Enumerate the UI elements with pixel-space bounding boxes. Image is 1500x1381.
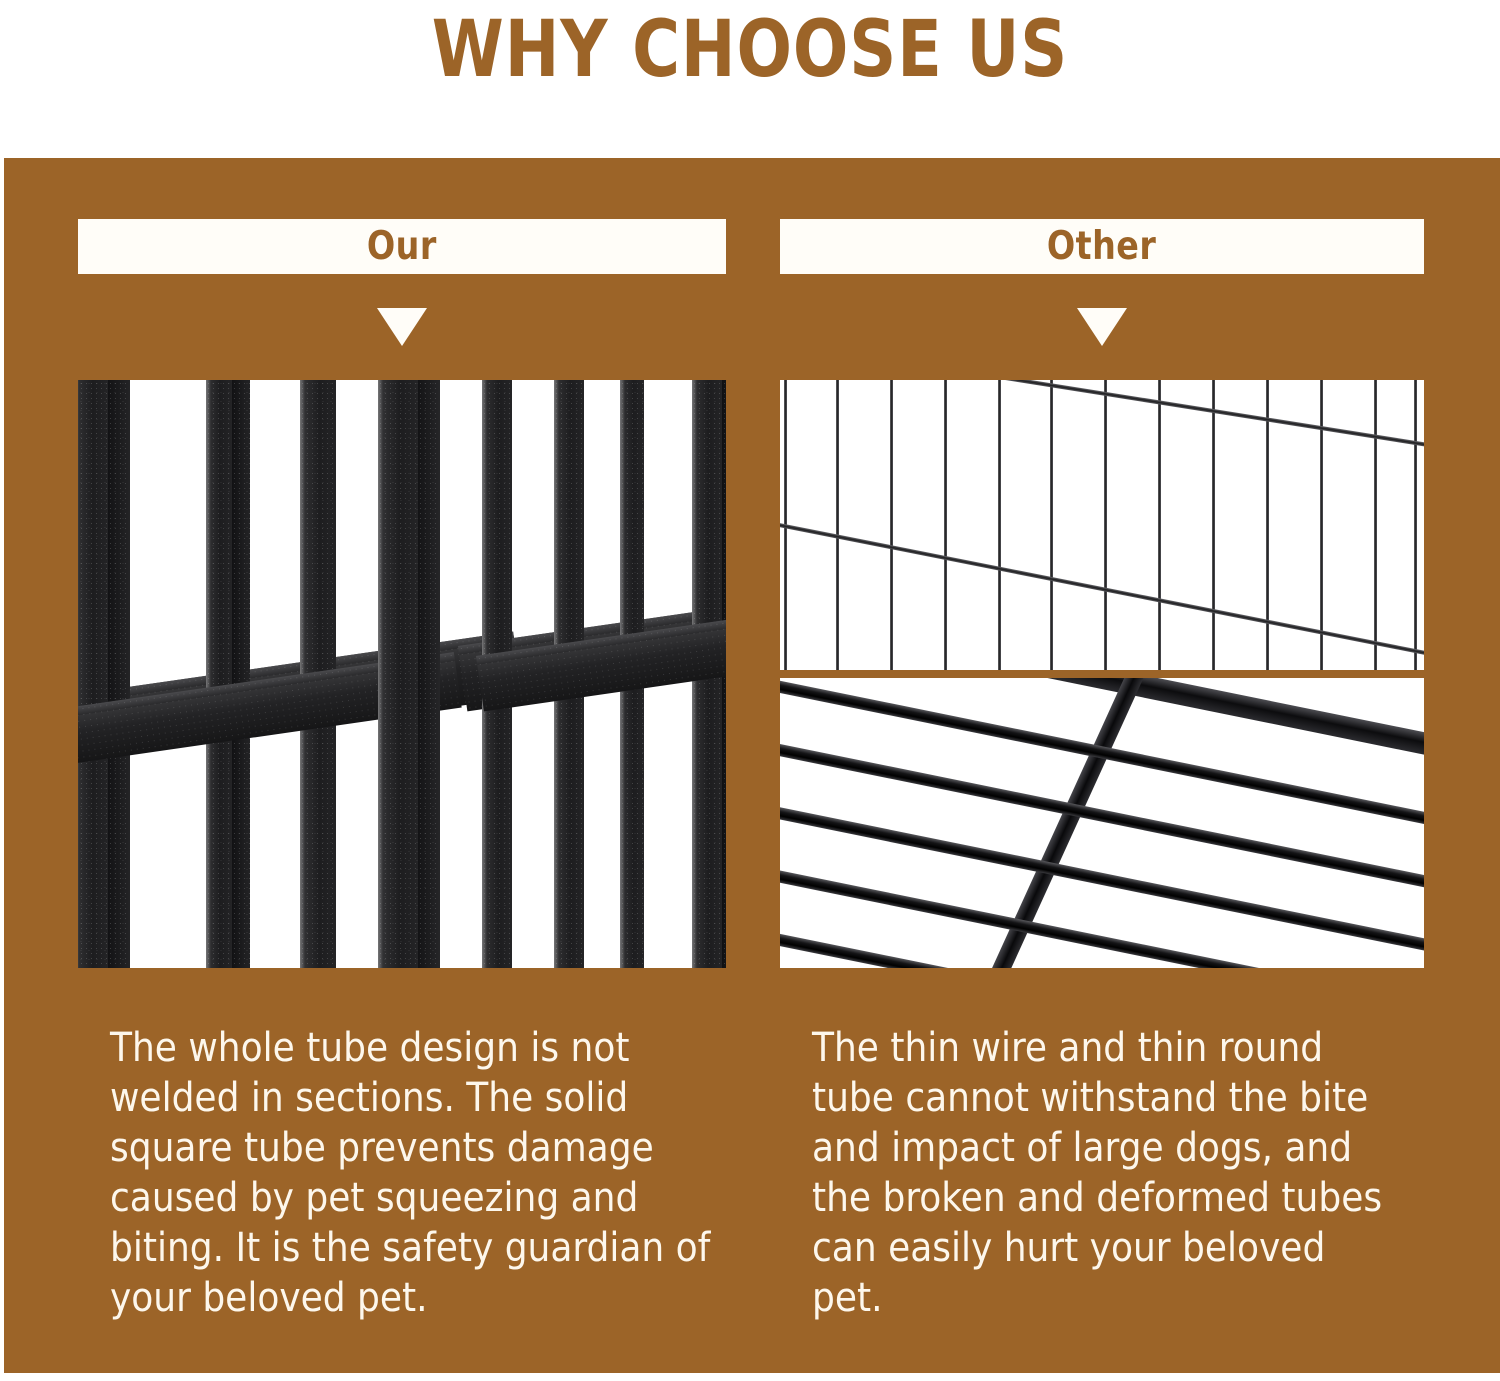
column-header-our: Our	[78, 219, 726, 274]
vertical-tube-4	[232, 380, 250, 968]
mesh-wire-v8	[1158, 380, 1161, 670]
page-title: WHY CHOOSE US	[53, 2, 1448, 98]
column-header-other: Other	[780, 219, 1424, 274]
mesh-wire-h-lower	[780, 522, 1424, 662]
mesh-wire-v13	[1414, 380, 1417, 670]
round-tube-5	[780, 897, 1415, 968]
column-header-other-label: Other	[1047, 224, 1156, 269]
triangle-down-icon-other	[1077, 308, 1127, 346]
mesh-wire-v11	[1320, 380, 1323, 670]
other-round-tube-image	[780, 678, 1424, 968]
vertical-tube-1	[78, 380, 108, 968]
mesh-wire-v3	[890, 380, 893, 670]
mesh-wire-v4	[944, 380, 947, 670]
wire-mesh-illustration	[780, 380, 1424, 670]
our-description: The whole tube design is not welded in s…	[110, 1023, 730, 1323]
round-tube-3	[780, 782, 1424, 959]
other-wire-mesh-image	[780, 380, 1424, 670]
mesh-wire-v9	[1212, 380, 1215, 670]
other-description: The thin wire and thin round tube cannot…	[812, 1023, 1404, 1323]
comparison-infographic: WHY CHOOSE US Our Other	[0, 0, 1500, 1381]
mesh-wire-v12	[1374, 380, 1377, 670]
mesh-wire-v6	[1050, 380, 1053, 670]
triangle-down-icon-our	[377, 308, 427, 346]
round-tube-illustration	[780, 678, 1424, 968]
vertical-tube-2	[108, 380, 130, 968]
mesh-wire-v2	[836, 380, 839, 670]
column-header-our-label: Our	[367, 224, 437, 269]
vertical-tube-center-front-b	[418, 380, 440, 968]
mesh-wire-h-upper	[980, 380, 1424, 457]
vertical-tube-center-front	[378, 380, 418, 968]
square-tube-illustration	[78, 380, 726, 968]
vertical-tube-3	[206, 380, 232, 968]
mesh-wire-v5	[998, 380, 1001, 670]
mesh-wire-v10	[1266, 380, 1269, 670]
mesh-wire-v7	[1104, 380, 1107, 670]
our-product-image	[78, 380, 726, 968]
